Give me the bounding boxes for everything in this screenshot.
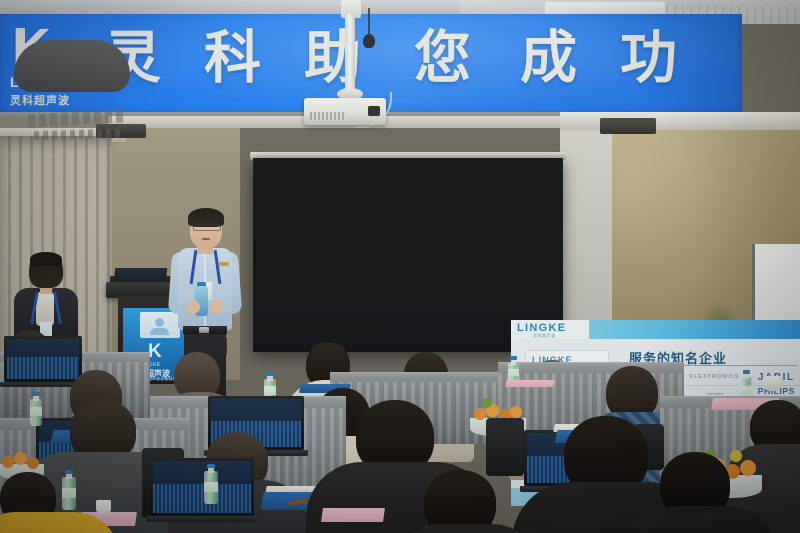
- bottle-cap: [266, 372, 273, 376]
- chair-back: [486, 418, 524, 476]
- ceiling-soffit-right: [560, 112, 800, 130]
- orange: [2, 456, 14, 468]
- banner-char-6: 功: [620, 30, 677, 87]
- laptop-lid: [4, 336, 82, 382]
- water-bottle: [62, 470, 76, 510]
- screen-waveform: [7, 357, 79, 379]
- slide-logo-subtext: 灵科超声波: [533, 333, 556, 339]
- orange: [474, 408, 486, 420]
- orange: [740, 460, 756, 476]
- presenter-belt-buckle: [199, 327, 209, 333]
- bottle-label: [62, 488, 76, 498]
- presenter-mouth: [202, 238, 210, 240]
- bottle-label: [740, 386, 753, 395]
- wall-speaker-right: [600, 118, 656, 134]
- bottle-label: [264, 386, 276, 394]
- green-fruit: [482, 398, 492, 408]
- banner-char-2: 科: [204, 30, 261, 87]
- bottle-cap: [32, 392, 39, 396]
- client-logo-flextronics: FLEXTRONICS: [684, 370, 745, 386]
- projector-arm: [345, 14, 355, 92]
- lingke-wordmark-cn: 灵科超声波: [10, 92, 96, 108]
- laptop-base: [146, 516, 258, 522]
- laptop-screen: [153, 461, 251, 513]
- hanging-sensor: [363, 34, 375, 48]
- staff-blouse: [36, 292, 54, 326]
- bottle-cap: [207, 464, 215, 468]
- logo-wordmark: FLEXTRONICS: [690, 373, 740, 382]
- projection-screen: LINGKE 灵科超声波 LINGKE 灵科超声波 灵科超声波塑焊设备有限公司 …: [253, 158, 563, 352]
- presenter-pocket-pen: [219, 262, 229, 266]
- paper-cup: [764, 376, 781, 391]
- hanging-cord: [368, 8, 370, 36]
- projector-lens: [368, 106, 380, 116]
- bottle-label: [204, 482, 218, 492]
- projector-vent: [310, 112, 346, 120]
- slide-logo: LINGKE 灵科超声波: [517, 322, 585, 338]
- laptop-screen: [7, 339, 79, 379]
- podium-panel-photo-head: [155, 318, 164, 327]
- screen-waveform: [153, 484, 251, 513]
- presenter-glasses: [193, 224, 221, 231]
- podium-k-mark: K: [148, 342, 172, 361]
- yellow-fruit: [730, 450, 742, 462]
- presenter-hand-right: [210, 300, 224, 314]
- bottle-cap: [743, 370, 751, 374]
- podium-panel-photo-body: [150, 328, 169, 335]
- orange: [27, 457, 39, 469]
- conference-room-photo: K LINGKE 灵科超声波 灵 科 助 您 成 功 LINGKE 灵科超声波: [0, 0, 800, 533]
- banner-char-4: 您: [414, 30, 471, 87]
- bottle-cap: [65, 470, 73, 474]
- handout-paper: [321, 508, 385, 522]
- handout-paper: [505, 380, 554, 387]
- laptop-lid: [150, 458, 254, 516]
- presenter-hand-left: [186, 300, 200, 314]
- orange: [14, 452, 27, 465]
- banner-char-5: 成: [520, 30, 577, 87]
- bottle-cap: [510, 356, 517, 360]
- water-bottle: [204, 464, 218, 504]
- bottle-label: [508, 369, 519, 376]
- orange: [510, 406, 522, 418]
- paper-cup: [96, 500, 111, 514]
- ceiling-light-fixture: [545, 2, 665, 14]
- audience-hood: [14, 40, 130, 92]
- staff-hair-front: [30, 252, 62, 266]
- bottle-label: [30, 407, 42, 416]
- water-bottle: [30, 392, 42, 426]
